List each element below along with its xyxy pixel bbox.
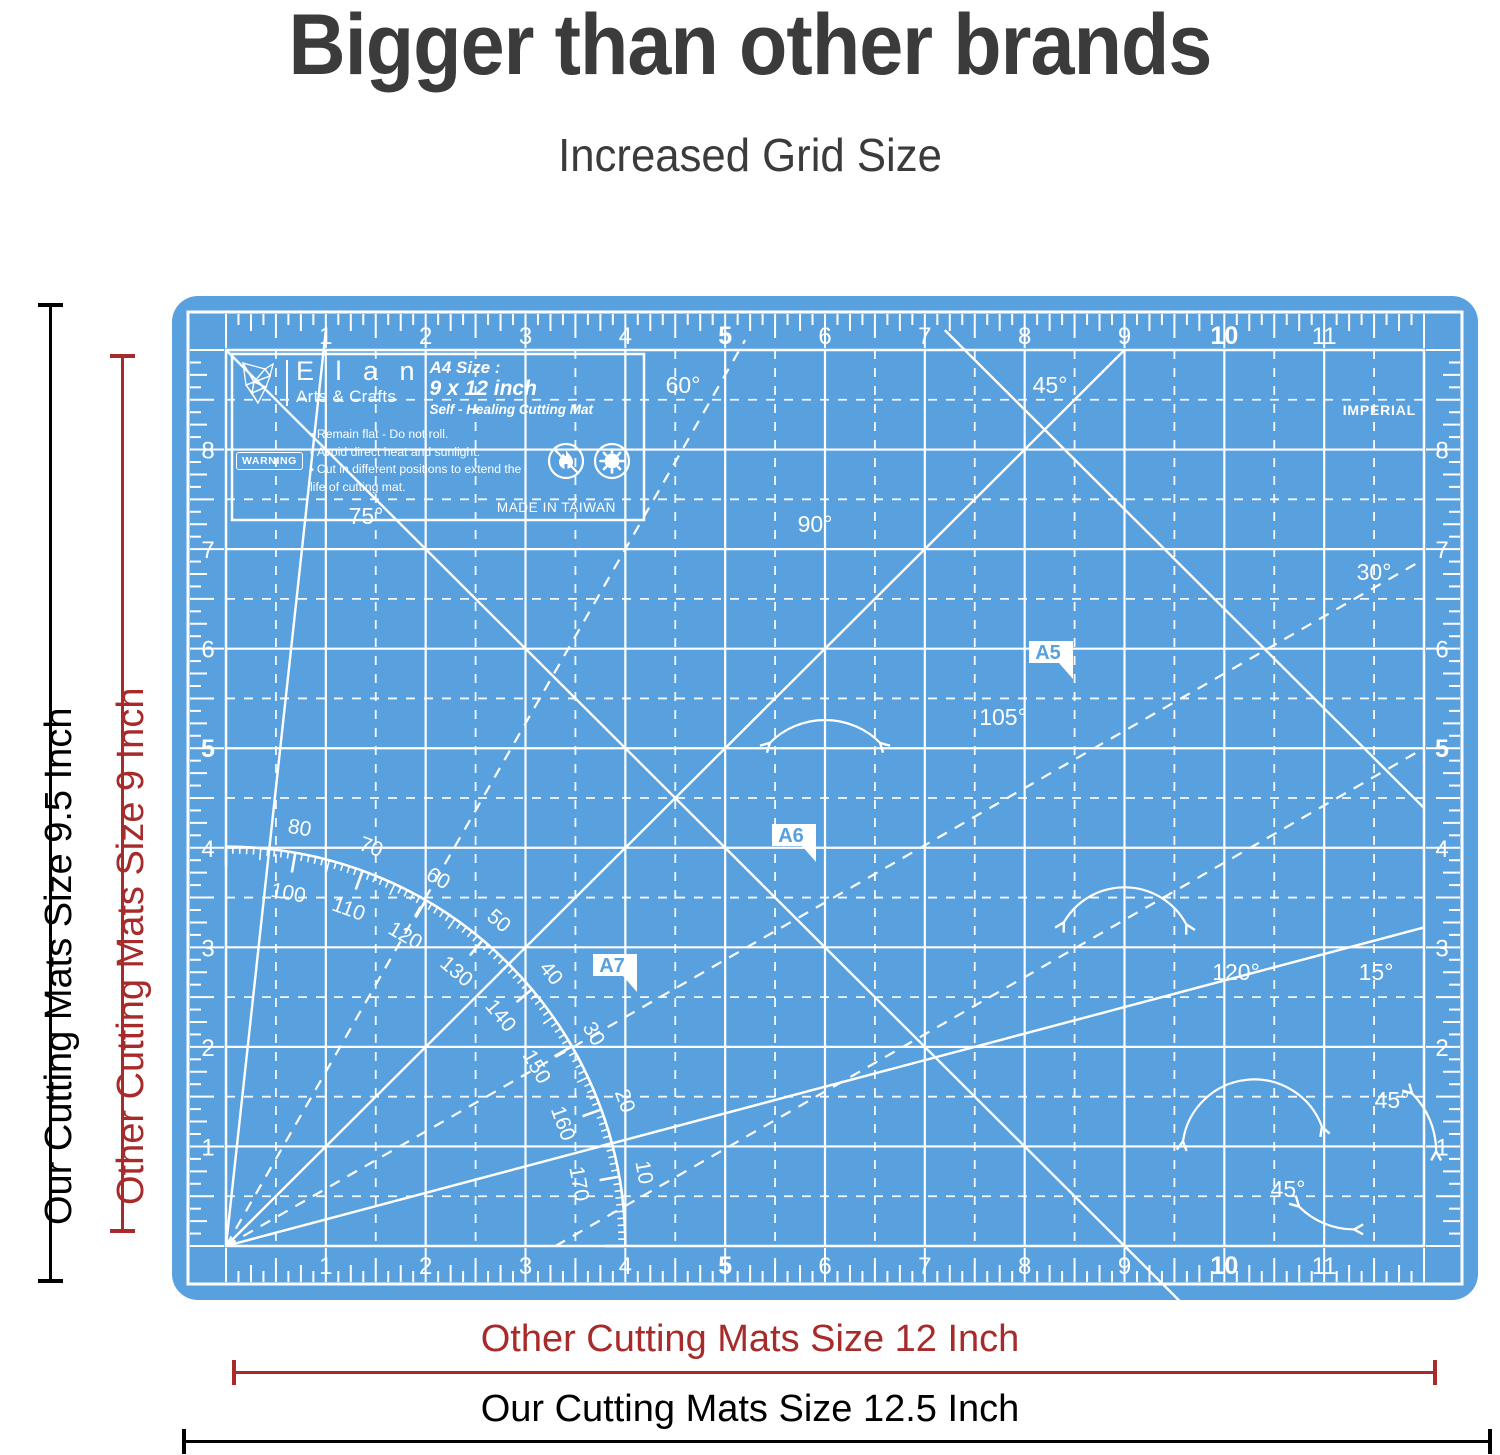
cutting-mat: 1234567891011123456789101112345678123456… <box>172 296 1478 1300</box>
page-title: Bigger than other brands <box>60 2 1440 88</box>
dimension-cap-right-our-width <box>1488 1429 1492 1454</box>
no-sun-icon <box>592 441 632 481</box>
warning-bullet-2: Avoid direct heat and sunlight. <box>310 444 538 462</box>
svg-text:11: 11 <box>1312 323 1337 350</box>
svg-text:2: 2 <box>419 323 432 350</box>
svg-text:10: 10 <box>1210 1252 1238 1280</box>
svg-text:1: 1 <box>319 1253 332 1280</box>
svg-text:2: 2 <box>1435 1035 1448 1062</box>
svg-text:6: 6 <box>818 1253 831 1280</box>
warning-bullets: Remain flat - Do not roll. Avoid direct … <box>310 426 538 497</box>
paper-size-flag-A6: A6 <box>772 824 816 862</box>
brand-text: E l a n Arts & Crafts <box>296 358 422 407</box>
svg-text:4: 4 <box>619 323 632 350</box>
svg-text:20: 20 <box>610 1086 640 1116</box>
svg-text:7: 7 <box>201 537 214 564</box>
svg-text:8: 8 <box>1018 1253 1031 1280</box>
imperial-label: IMPERIAL <box>1343 402 1416 418</box>
warning-badge: WARNING <box>236 452 303 470</box>
svg-text:80: 80 <box>286 815 313 842</box>
dimension-line-other-width <box>232 1371 1437 1374</box>
svg-text:110: 110 <box>329 893 368 926</box>
svg-text:4: 4 <box>619 1253 632 1280</box>
angle-label-0: 60° <box>666 372 701 398</box>
svg-text:4: 4 <box>201 836 214 863</box>
dimension-cap-bottom-our-height <box>38 1279 63 1283</box>
svg-text:7: 7 <box>918 1253 931 1280</box>
warning-bullet-3: Cut in different positions to extend the… <box>310 461 538 496</box>
svg-text:A6: A6 <box>778 825 804 847</box>
dimension-cap-left-other-width <box>232 1360 236 1385</box>
svg-text:150: 150 <box>518 1046 555 1088</box>
brand-row: E l a n Arts & Crafts A4 Size : 9 x 12 i… <box>236 358 632 418</box>
angle-label-1: 45° <box>1033 372 1068 398</box>
svg-text:5: 5 <box>201 735 215 763</box>
svg-text:A7: A7 <box>599 955 625 977</box>
svg-text:1: 1 <box>1435 1134 1448 1161</box>
infographic-root: Bigger than other brands Increased Grid … <box>0 0 1500 1455</box>
svg-text:6: 6 <box>201 637 214 664</box>
svg-text:10: 10 <box>630 1159 657 1186</box>
svg-text:120: 120 <box>384 917 426 954</box>
svg-text:2: 2 <box>419 1253 432 1280</box>
svg-text:70: 70 <box>356 833 386 863</box>
svg-text:1: 1 <box>319 323 332 350</box>
warning-bullet-1: Remain flat - Do not roll. <box>310 426 538 444</box>
svg-text:8: 8 <box>1018 323 1031 350</box>
svg-text:4: 4 <box>1435 836 1448 863</box>
svg-text:60: 60 <box>422 863 454 895</box>
svg-text:6: 6 <box>818 323 831 350</box>
svg-text:3: 3 <box>519 1253 532 1280</box>
dimension-cap-left-our-width <box>182 1429 186 1454</box>
angle-label-7: 15° <box>1359 959 1394 985</box>
product-size-line1: A4 Size : <box>430 358 594 377</box>
svg-text:5: 5 <box>1435 735 1449 763</box>
svg-text:3: 3 <box>519 323 532 350</box>
svg-text:2: 2 <box>201 1035 214 1062</box>
svg-text:9: 9 <box>1118 323 1131 350</box>
svg-text:A5: A5 <box>1035 642 1061 664</box>
dimension-cap-top-other-height <box>110 354 135 358</box>
svg-text:140: 140 <box>480 995 520 1037</box>
paper-size-flags: A5A6A7 <box>593 641 1073 992</box>
svg-text:5: 5 <box>718 1252 732 1280</box>
dimension-line-our-width <box>182 1440 1492 1443</box>
angle-label-6: 120° <box>1212 959 1260 985</box>
svg-text:3: 3 <box>201 935 214 962</box>
warning-icons <box>546 441 632 481</box>
svg-text:9: 9 <box>1118 1253 1131 1280</box>
paper-size-flag-A7: A7 <box>593 954 637 992</box>
no-flame-icon <box>546 441 586 481</box>
svg-text:170: 170 <box>564 1165 593 1204</box>
svg-text:160: 160 <box>546 1103 580 1144</box>
origami-bird-icon <box>236 360 280 406</box>
svg-text:8: 8 <box>1435 438 1448 465</box>
product-size-block: A4 Size : 9 x 12 inch Self - Healing Cut… <box>430 358 594 418</box>
origin-label: MADE IN TAIWAN <box>236 500 632 515</box>
label-other-width: Other Cutting Mats Size 12 Inch <box>0 1318 1500 1361</box>
svg-text:8: 8 <box>201 438 214 465</box>
product-size-line3: Self - Healing Cutting Mat <box>430 402 594 418</box>
svg-text:5: 5 <box>718 322 732 350</box>
svg-text:130: 130 <box>435 951 477 991</box>
angle-label-5: 105° <box>979 704 1027 730</box>
svg-text:3: 3 <box>1435 935 1448 962</box>
product-size-line2: 9 x 12 inch <box>430 377 594 401</box>
angle-label-9: 45° <box>1271 1176 1306 1202</box>
brand-divider <box>286 360 288 406</box>
angle-label-3: 90° <box>798 511 833 537</box>
svg-text:10: 10 <box>1210 322 1238 350</box>
dimension-cap-right-other-width <box>1433 1360 1437 1385</box>
svg-text:40: 40 <box>535 957 568 990</box>
warning-row: WARNING Remain flat - Do not roll. Avoid… <box>236 426 632 497</box>
svg-text:7: 7 <box>1435 537 1448 564</box>
svg-text:1: 1 <box>201 1134 214 1161</box>
dimension-cap-top-our-height <box>38 303 63 307</box>
svg-text:30: 30 <box>578 1018 610 1050</box>
dimension-cap-bottom-other-height <box>110 1229 135 1233</box>
svg-text:6: 6 <box>1435 637 1448 664</box>
label-other-height: Other Cutting Mats Size 9 Inch <box>110 688 153 1205</box>
label-our-width: Our Cutting Mats Size 12.5 Inch <box>0 1388 1500 1431</box>
angle-label-4: 30° <box>1357 559 1392 585</box>
product-info-box: E l a n Arts & Crafts A4 Size : 9 x 12 i… <box>236 358 632 514</box>
svg-text:7: 7 <box>918 323 931 350</box>
svg-text:100: 100 <box>269 879 308 908</box>
label-our-height: Our Cutting Mats Size 9.5 Inch <box>38 708 81 1225</box>
paper-size-flag-A5: A5 <box>1029 641 1073 679</box>
svg-text:50: 50 <box>482 905 515 938</box>
page-subtitle: Increased Grid Size <box>38 128 1463 182</box>
brand-name: E l a n <box>296 358 422 385</box>
angle-label-8: 45° <box>1375 1087 1410 1113</box>
svg-text:11: 11 <box>1312 1253 1337 1280</box>
brand-tagline: Arts & Crafts <box>296 387 422 407</box>
